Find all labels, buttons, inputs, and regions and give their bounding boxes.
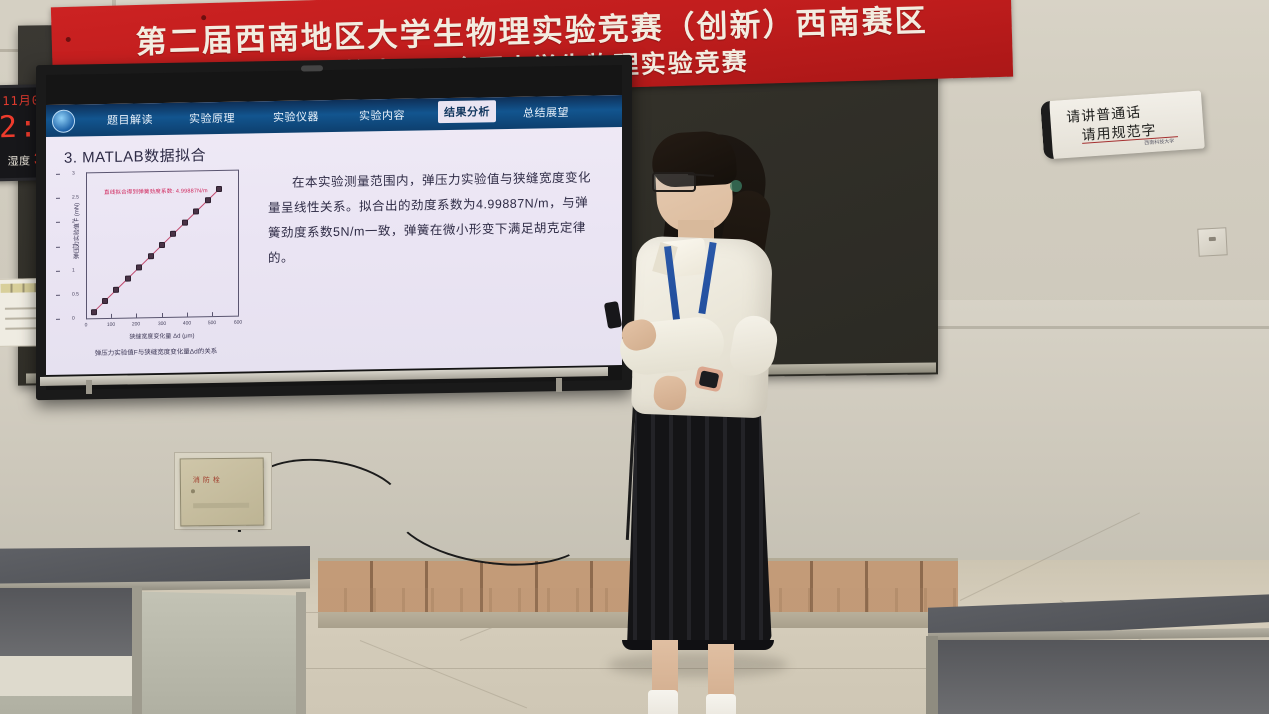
xtick-400: 400 bbox=[183, 320, 191, 326]
xtick-500: 500 bbox=[208, 320, 216, 326]
figure-caption: 弹压力实验值F与狭缝宽度变化量Δd的关系 bbox=[54, 344, 258, 358]
data-point bbox=[102, 297, 108, 303]
chart-xlabel: 狭缝宽度变化量 Δd (μm) bbox=[86, 330, 238, 342]
data-point bbox=[91, 309, 97, 315]
tab-topic-interpretation[interactable]: 题目解读 bbox=[102, 109, 158, 130]
university-logo-icon bbox=[52, 110, 75, 133]
humidity-label: 湿度 bbox=[7, 156, 30, 168]
hair-tie bbox=[730, 180, 742, 192]
data-point bbox=[148, 253, 154, 259]
classroom-scene: 11月03日 星期四 2:41 湿度 34 %RH 第二届西南地区大学生物理实验… bbox=[0, 0, 1269, 714]
data-point bbox=[182, 220, 188, 226]
data-point bbox=[136, 264, 142, 270]
data-point bbox=[125, 275, 131, 281]
mandarin-notice-sign: 请讲普通话 请用规范字 西南科技大学 bbox=[1040, 90, 1205, 159]
wall-outlet[interactable] bbox=[1197, 227, 1227, 256]
tab-experiment-principle[interactable]: 实验原理 bbox=[184, 108, 240, 129]
outlet-hole-icon bbox=[1209, 237, 1216, 241]
camera-icon bbox=[301, 65, 323, 71]
ytick-0: 0 bbox=[72, 316, 75, 322]
presenter bbox=[600, 120, 810, 680]
display-leg-right bbox=[556, 378, 562, 392]
ytick-0.5: 0.5 bbox=[72, 291, 79, 297]
fire-hose-box[interactable]: 消防栓 bbox=[180, 458, 265, 527]
slide-body-text: 在本实验测量范围内，弹压力实验值与狭缝宽度变化量呈线性关系。拟合出的劲度系数为4… bbox=[268, 165, 598, 271]
data-point bbox=[216, 186, 222, 192]
skirt bbox=[624, 398, 772, 648]
data-point bbox=[205, 197, 211, 203]
presentation-clicker[interactable] bbox=[604, 301, 622, 329]
matlab-fit-chart: 0 100 200 300 400 500 600 0 0.5 1 1.5 2 bbox=[60, 163, 252, 344]
chart-ylabel: 弹压力实验值 F (mN) bbox=[72, 171, 81, 291]
xtick-0: 0 bbox=[85, 322, 88, 328]
chart-axis-right bbox=[238, 170, 239, 316]
sock-right bbox=[706, 694, 736, 714]
tab-results-analysis[interactable]: 结果分析 bbox=[438, 100, 496, 123]
tab-experiment-content[interactable]: 实验内容 bbox=[354, 105, 410, 126]
tab-summary-outlook[interactable]: 总结展望 bbox=[518, 102, 574, 123]
slide-navbar: 题目解读 实验原理 实验仪器 实验内容 结果分析 总结展望 bbox=[46, 95, 622, 137]
tab-experiment-apparatus[interactable]: 实验仪器 bbox=[268, 106, 324, 127]
wall-box-strip bbox=[193, 503, 249, 509]
skirt-hem bbox=[622, 640, 774, 650]
presentation-slide: 题目解读 实验原理 实验仪器 实验内容 结果分析 总结展望 3. MATLAB数… bbox=[46, 95, 622, 375]
wall-box-label: 消防栓 bbox=[193, 475, 223, 485]
xtick-300: 300 bbox=[158, 321, 166, 327]
data-point bbox=[193, 208, 199, 214]
xtick-200: 200 bbox=[132, 321, 140, 327]
interactive-display[interactable]: 题目解读 实验原理 实验仪器 实验内容 结果分析 总结展望 3. MATLAB数… bbox=[36, 55, 632, 400]
chart-plot-layer bbox=[86, 170, 238, 319]
wall-box-latch-icon bbox=[191, 489, 195, 493]
data-point bbox=[159, 242, 165, 248]
xtick-100: 100 bbox=[107, 322, 115, 328]
data-point bbox=[170, 231, 176, 237]
xtick-600: 600 bbox=[234, 320, 242, 326]
sign-university-mark: 西南科技大学 bbox=[1144, 137, 1174, 146]
display-leg-left bbox=[86, 380, 92, 394]
fit-line bbox=[93, 188, 219, 312]
data-point bbox=[113, 287, 119, 293]
sock-left bbox=[648, 690, 678, 714]
